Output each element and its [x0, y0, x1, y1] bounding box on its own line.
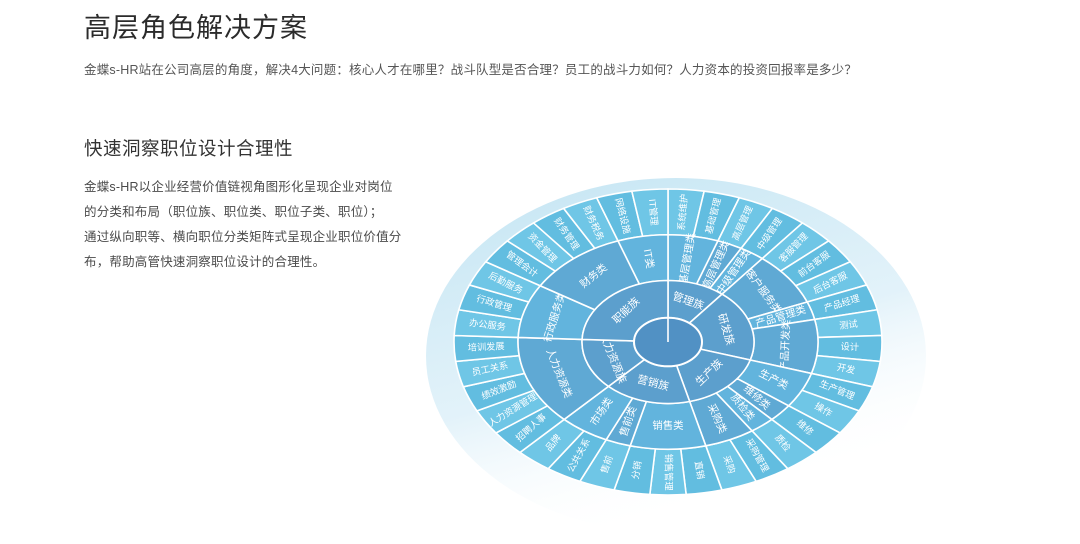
- page-title: 高层角色解决方案: [84, 12, 1024, 46]
- section-title: 快速洞察职位设计合理性: [84, 137, 404, 161]
- section-body: 金蝶s-HR以企业经营价值链视角图形化呈现企业对岗位的分类和布局（职位族、职位类…: [84, 175, 404, 275]
- sunburst-leaf-18-label: 销售管理: [664, 454, 675, 491]
- hero-block: 高层角色解决方案 金蝶s-HR站在公司高层的角度，解决4大问题：核心人才在哪里？…: [84, 12, 1024, 80]
- sunburst-chart: 系统维护基础管理基层管理类高层管理高层管理类中级管理中级管理类管理族客服管理前台…: [408, 120, 968, 544]
- sunburst-leaf-18[interactable]: 销售管理: [650, 449, 686, 495]
- sunburst-leaf-36-label: IT管理: [647, 199, 660, 226]
- sunburst-leaf-27-label: 培训发展: [468, 340, 505, 353]
- page-subtitle: 金蝶s-HR站在公司高层的角度，解决4大问题：核心人才在哪里？战斗队型是否合理？…: [84, 60, 1024, 80]
- sunburst-leaf-8-label: 测试: [839, 318, 859, 331]
- sunburst-svg: 系统维护基础管理基层管理类高层管理高层管理类中级管理中级管理类管理族客服管理前台…: [408, 120, 968, 544]
- sunburst-rings: 系统维护基础管理基层管理类高层管理高层管理类中级管理中级管理类管理族客服管理前台…: [454, 189, 882, 495]
- page-root: 高层角色解决方案 金蝶s-HR站在公司高层的角度，解决4大问题：核心人才在哪里？…: [0, 0, 1080, 544]
- sunburst-leaf-9-label: 设计: [840, 341, 859, 353]
- sunburst-class-10-label: 销售类: [652, 419, 683, 432]
- description-column: 快速洞察职位设计合理性 金蝶s-HR以企业经营价值链视角图形化呈现企业对岗位的分…: [84, 137, 404, 275]
